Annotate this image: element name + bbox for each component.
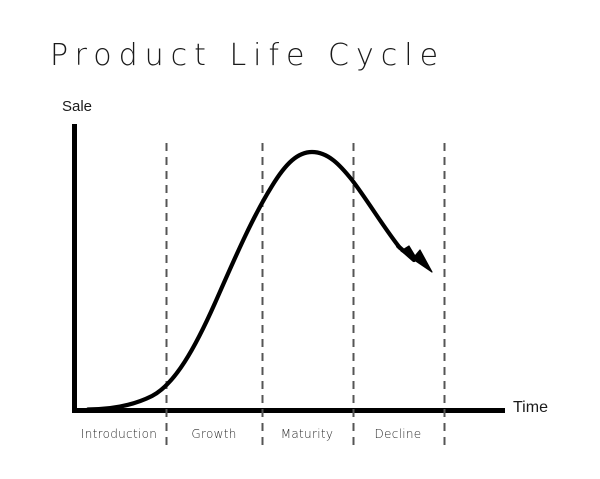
product-life-cycle-diagram: Product Life Cycle Sale Time Introductio… [0, 0, 600, 479]
stage-label-growth: Growth [191, 427, 236, 441]
chart-plot-area [0, 0, 600, 479]
stage-label-maturity: Maturity [281, 427, 334, 441]
stage-label-introduction: Introduction [81, 427, 157, 441]
curve-arrowhead-icon [401, 246, 432, 272]
stage-label-decline: Decline [375, 427, 422, 441]
